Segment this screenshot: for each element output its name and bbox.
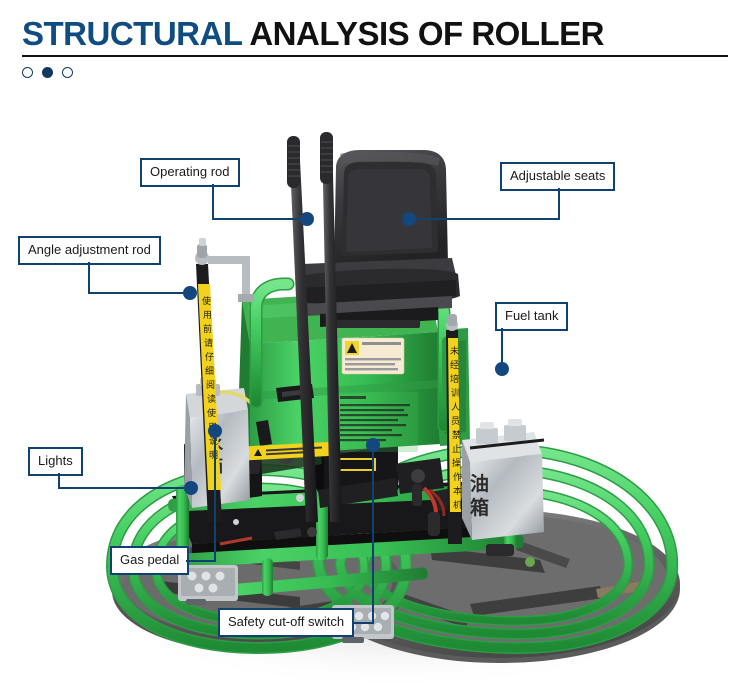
svg-text:机: 机 — [453, 499, 462, 511]
title-accent-text: STRUCTURAL — [22, 15, 242, 52]
svg-text:前: 前 — [203, 323, 212, 335]
callout-knob-fuel-tank[interactable] — [495, 362, 509, 376]
svg-text:作: 作 — [453, 471, 462, 483]
fuel-tank: 油 箱 — [462, 419, 544, 540]
slide-root: STRUCTURAL ANALYSIS OF ROLLER — [0, 0, 750, 683]
svg-text:人: 人 — [451, 402, 460, 413]
leader-line-operating-rod-v — [212, 184, 214, 219]
callout-label-fuel-tank[interactable]: Fuel tank — [495, 302, 568, 331]
callout-label-adjustable-seats[interactable]: Adjustable seats — [500, 162, 615, 191]
leader-line-safety-cutoff-v — [372, 452, 374, 624]
svg-text:仔: 仔 — [205, 351, 214, 363]
slide-dot-2[interactable] — [42, 67, 53, 78]
svg-text:箱: 箱 — [470, 496, 489, 519]
svg-text:油: 油 — [470, 473, 489, 495]
slide-dot-3[interactable] — [62, 67, 73, 78]
leader-line-safety-cutoff-h — [352, 622, 374, 624]
callout-label-angle-adjustment-rod[interactable]: Angle adjustment rod — [18, 236, 161, 265]
leader-line-angle-adjustment-rod-v — [88, 262, 90, 294]
callout-knob-adjustable-seats[interactable] — [402, 212, 416, 226]
callout-knob-operating-rod[interactable] — [300, 212, 314, 226]
svg-text:读: 读 — [207, 393, 216, 405]
leader-line-gas-pedal-h — [186, 560, 216, 562]
leader-line-operating-rod-h — [212, 218, 308, 220]
svg-text:操: 操 — [452, 457, 461, 469]
svg-text:用: 用 — [203, 310, 212, 321]
title-divider — [22, 55, 728, 57]
leader-line-adjustable-seats-v — [558, 188, 560, 220]
svg-text:使: 使 — [207, 407, 216, 419]
svg-text:请: 请 — [204, 337, 213, 349]
callout-knob-safety-cutoff-switch[interactable] — [366, 438, 380, 452]
callout-label-safety-cutoff-switch[interactable]: Safety cut-off switch — [218, 608, 354, 637]
callout-knob-lights[interactable] — [184, 481, 198, 495]
leader-line-lights-h — [58, 487, 190, 489]
svg-text:训: 训 — [451, 388, 460, 399]
leader-line-angle-adjustment-rod-h — [88, 292, 191, 294]
callout-knob-angle-adjustment-rod[interactable] — [183, 286, 197, 300]
leader-line-gas-pedal-v — [214, 438, 216, 562]
svg-text:员: 员 — [451, 416, 460, 427]
callout-label-lights[interactable]: Lights — [28, 447, 83, 476]
product-photo-power-trowel: 水 箱 油 箱 — [0, 92, 750, 683]
svg-text:培: 培 — [450, 373, 459, 385]
leader-line-adjustable-seats-h — [410, 218, 560, 220]
callout-label-gas-pedal[interactable]: Gas pedal — [110, 546, 189, 575]
svg-text:未: 未 — [450, 345, 459, 357]
svg-text:使: 使 — [202, 295, 211, 307]
svg-text:细: 细 — [205, 365, 214, 377]
svg-text:本: 本 — [453, 485, 462, 497]
svg-text:阅: 阅 — [206, 380, 215, 391]
slide-header: STRUCTURAL ANALYSIS OF ROLLER — [0, 0, 750, 92]
slide-pagination-dots[interactable] — [22, 63, 73, 81]
title-main-text: ANALYSIS OF ROLLER — [249, 15, 604, 52]
callout-knob-gas-pedal[interactable] — [208, 424, 222, 438]
svg-text:止: 止 — [452, 443, 461, 455]
svg-text:经: 经 — [450, 359, 459, 371]
slide-dot-1[interactable] — [22, 67, 33, 78]
product-diagram-stage: 水 箱 油 箱 — [0, 92, 750, 683]
callout-label-operating-rod[interactable]: Operating rod — [140, 158, 240, 187]
svg-text:禁: 禁 — [452, 430, 461, 441]
page-title: STRUCTURAL ANALYSIS OF ROLLER — [22, 15, 604, 53]
